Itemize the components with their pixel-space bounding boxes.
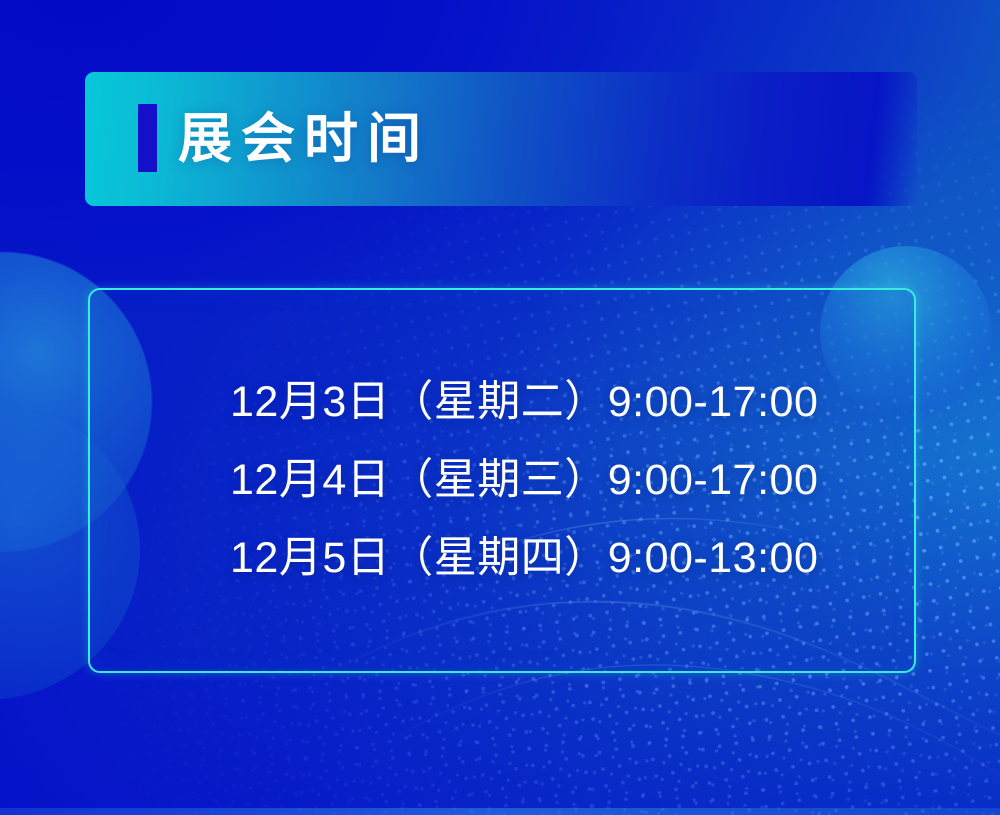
title-banner: 展会时间 <box>85 72 917 206</box>
page-title: 展会时间 <box>178 112 430 166</box>
poster-root: 展会时间 12月3日（星期二）9:00-17:00 12月4日（星期三）9:00… <box>0 0 1000 815</box>
schedule-card: 12月3日（星期二）9:00-17:00 12月4日（星期三）9:00-17:0… <box>88 288 916 673</box>
accent-bar-icon <box>138 104 157 172</box>
bottom-highlight-strip <box>0 808 1000 815</box>
schedule-list: 12月3日（星期二）9:00-17:00 12月4日（星期三）9:00-17:0… <box>230 381 914 580</box>
schedule-line-2: 12月4日（星期三）9:00-17:00 <box>230 459 914 502</box>
schedule-line-3: 12月5日（星期四）9:00-13:00 <box>230 537 914 580</box>
schedule-line-1: 12月3日（星期二）9:00-17:00 <box>230 381 914 424</box>
